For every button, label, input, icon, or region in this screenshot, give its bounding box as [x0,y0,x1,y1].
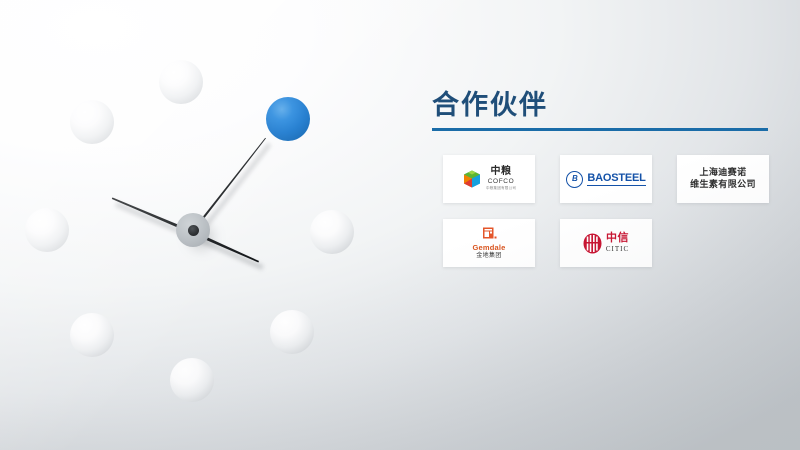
clock-marker-ball [310,210,354,254]
clock-marker-highlight [266,97,310,141]
baosteel-emblem-icon: B [566,171,583,188]
clock-hub-cap [188,225,199,236]
citic-name-en: CITIC [606,246,629,253]
baosteel-mark-letter: B [572,175,578,183]
clock-marker-ball [25,208,69,252]
citic-name-cn: 中信 [606,233,629,244]
clock-marker-10 [70,100,114,144]
cofco-name-en: COFCO [488,179,514,186]
title-underline [432,128,768,131]
clock-marker-12 [159,60,203,104]
gemdale-name-en: Gemdale [472,244,505,252]
clock-marker-6 [170,358,214,402]
gemdale-square-icon [482,227,497,242]
clock-marker-ball [270,310,314,354]
desano-line-1: 上海迪赛诺 [699,167,746,179]
clock-marker-ball [159,60,203,104]
clock-marker-ball [170,358,214,402]
desano-wordmark: 上海迪赛诺 维生素有限公司 [690,167,756,191]
cofco-wordmark: 中粮 COFCO 中粮集团有限公司 [486,167,516,190]
cofco-lockup: 中粮 COFCO 中粮集团有限公司 [462,167,516,190]
clock-marker-3 [310,210,354,254]
partner-logo-citic[interactable]: 中信 CITIC [560,219,652,267]
cofco-cube-icon [462,169,482,189]
wall-clock-image [0,0,400,450]
partners-panel: 合作伙伴 [424,92,776,267]
clock-marker-7 [70,313,114,357]
cofco-tagline: 中粮集团有限公司 [486,187,516,191]
citic-emblem-icon [583,233,602,254]
clock-marker-4 [270,310,314,354]
gemdale-name-cn: 金地集团 [476,253,502,259]
partner-logo-gemdale[interactable]: Gemdale 金地集团 [443,219,535,267]
gemdale-lockup: Gemdale 金地集团 [472,227,505,260]
partner-logo-grid: 中粮 COFCO 中粮集团有限公司 B BAOSTEEL 上海 [443,155,776,267]
baosteel-wordmark: BAOSTEEL [587,172,645,186]
clock-marker-9 [25,208,69,252]
partner-logo-baosteel[interactable]: B BAOSTEEL [560,155,652,203]
citic-lockup: 中信 CITIC [583,233,629,254]
baosteel-lockup: B BAOSTEEL [566,171,645,188]
desano-line-2: 维生素有限公司 [690,179,756,191]
citic-wordmark: 中信 CITIC [606,233,629,253]
clock-marker-ball-blue [266,97,310,141]
page-title: 合作伙伴 [424,92,776,119]
clock-marker-ball [70,100,114,144]
slide-canvas: 合作伙伴 [0,0,800,450]
clock-marker-ball [70,313,114,357]
partner-logo-desano[interactable]: 上海迪赛诺 维生素有限公司 [677,155,769,203]
cofco-name-cn: 中粮 [490,167,511,177]
partner-logo-cofco[interactable]: 中粮 COFCO 中粮集团有限公司 [443,155,535,203]
